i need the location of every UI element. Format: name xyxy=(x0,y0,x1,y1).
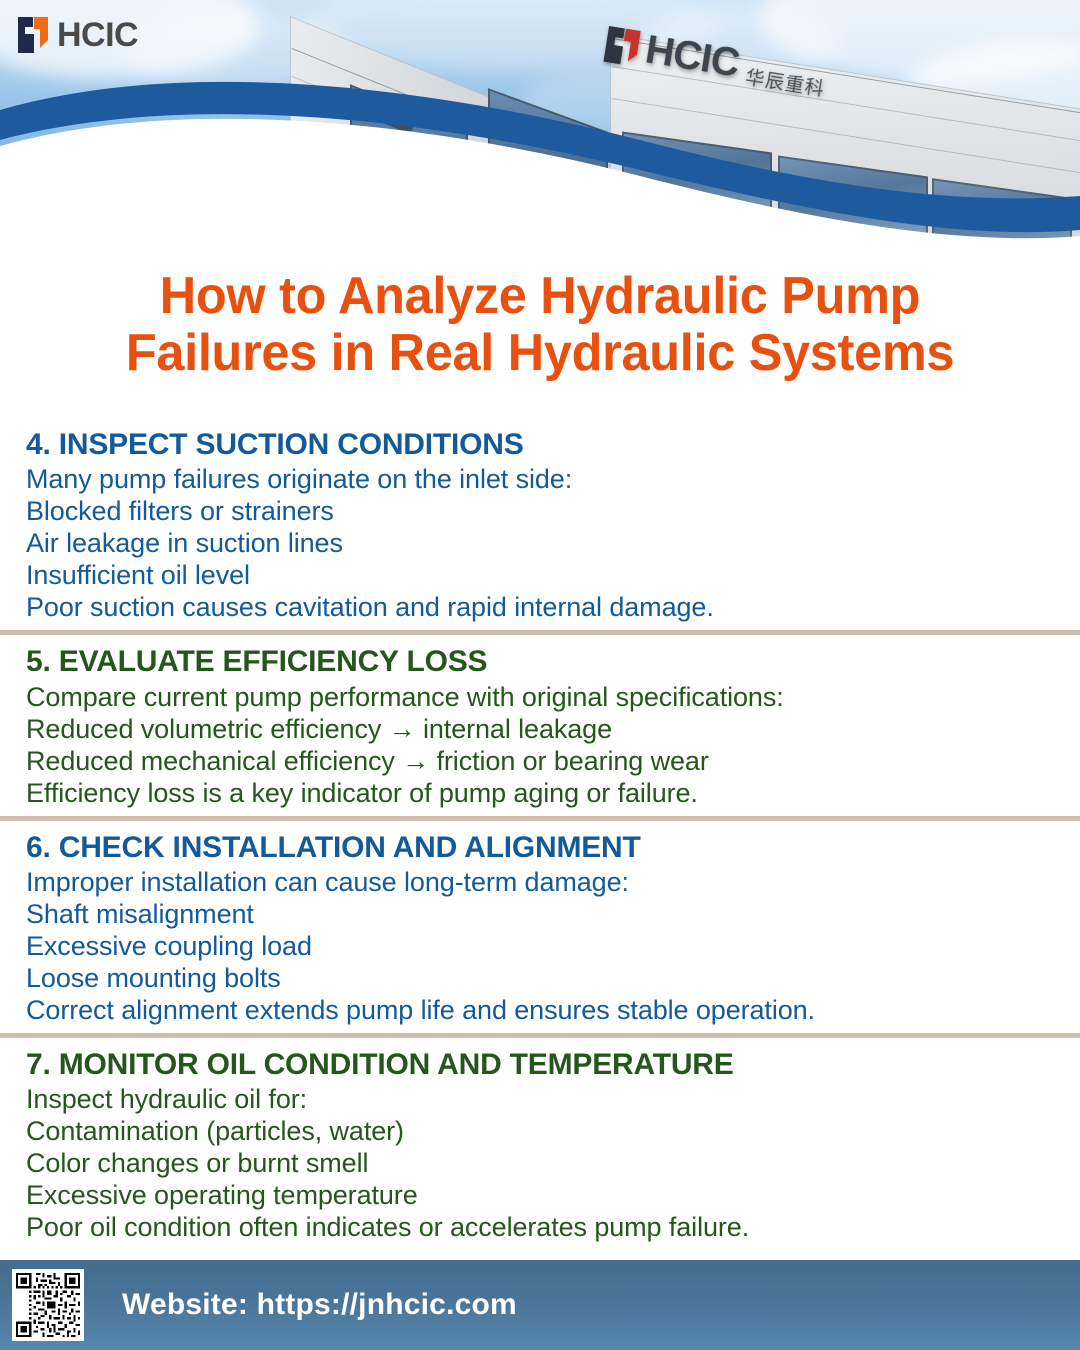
hero-header: HCIC 华辰重科 HCIC xyxy=(0,0,1080,258)
section-line: Inspect hydraulic oil for: xyxy=(26,1084,1054,1116)
section-4: 7. MONITOR OIL CONDITION AND TEMPERATURE… xyxy=(0,1038,1080,1250)
page-title-line2: Failures in Real Hydraulic Systems xyxy=(126,324,954,382)
qr-code[interactable] xyxy=(12,1269,84,1341)
section-line: Reduced mechanical efficiency → friction… xyxy=(26,746,1054,778)
qr-code-icon xyxy=(16,1273,80,1337)
section-1: 4. INSPECT SUCTION CONDITIONSMany pump f… xyxy=(0,418,1080,630)
section-3: 6. CHECK INSTALLATION AND ALIGNMENTImpro… xyxy=(0,821,1080,1033)
section-line: Contamination (particles, water) xyxy=(26,1116,1054,1148)
infographic-page: HCIC 华辰重科 HCIC How to Analyze Hydraulic … xyxy=(0,0,1080,1350)
section-line: Compare current pump performance with or… xyxy=(26,682,1054,714)
section-line: Improper installation can cause long-ter… xyxy=(26,867,1054,899)
section-line: Air leakage in suction lines xyxy=(26,528,1054,560)
section-line: Poor suction causes cavitation and rapid… xyxy=(26,592,1054,624)
section-heading: 5. EVALUATE EFFICIENCY LOSS xyxy=(26,643,1054,681)
section-line: Loose mounting bolts xyxy=(26,963,1054,995)
hcic-logo-mark-icon xyxy=(16,16,50,54)
section-heading: 6. CHECK INSTALLATION AND ALIGNMENT xyxy=(26,829,1054,867)
section-line: Insufficient oil level xyxy=(26,560,1054,592)
section-line: Correct alignment extends pump life and … xyxy=(26,995,1054,1027)
section-heading: 7. MONITOR OIL CONDITION AND TEMPERATURE xyxy=(26,1046,1054,1084)
section-2: 5. EVALUATE EFFICIENCY LOSSCompare curre… xyxy=(0,635,1080,815)
section-line: Reduced volumetric efficiency → internal… xyxy=(26,714,1054,746)
section-line: Poor oil condition often indicates or ac… xyxy=(26,1212,1054,1244)
section-line: Efficiency loss is a key indicator of pu… xyxy=(26,778,1054,810)
content-sections: 4. INSPECT SUCTION CONDITIONSMany pump f… xyxy=(0,418,1080,1250)
section-line: Many pump failures originate on the inle… xyxy=(26,464,1054,496)
section-line: Blocked filters or strainers xyxy=(26,496,1054,528)
section-line: Excessive coupling load xyxy=(26,931,1054,963)
section-line: Excessive operating temperature xyxy=(26,1180,1054,1212)
section-line: Color changes or burnt smell xyxy=(26,1148,1054,1180)
hcic-logo-text: HCIC xyxy=(57,18,138,52)
hcic-logo: HCIC xyxy=(16,16,138,54)
section-line: Shaft misalignment xyxy=(26,899,1054,931)
section-heading: 4. INSPECT SUCTION CONDITIONS xyxy=(26,426,1054,464)
blue-wave-ribbon xyxy=(0,0,1080,258)
page-title: How to Analyze Hydraulic Pump Failures i… xyxy=(55,268,1025,381)
website-label: Website: https://jnhcic.com xyxy=(122,1288,517,1322)
page-title-line1: How to Analyze Hydraulic Pump xyxy=(160,267,920,325)
footer-bar: Website: https://jnhcic.com xyxy=(0,1260,1080,1350)
